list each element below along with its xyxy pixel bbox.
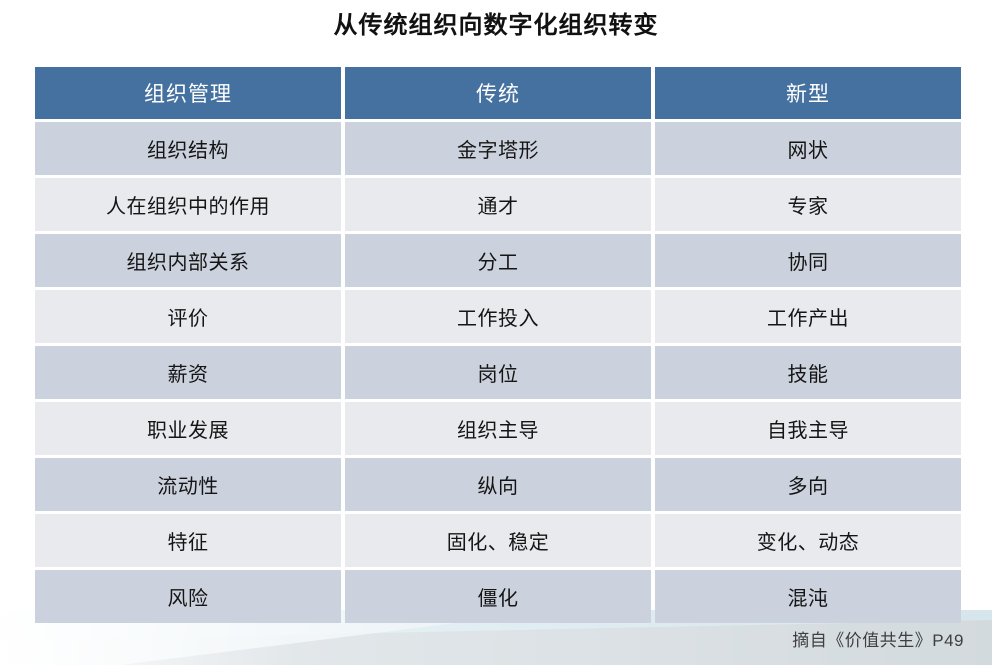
table-row: 组织结构 金字塔形 网状 — [35, 122, 961, 175]
column-header-modern: 新型 — [655, 67, 961, 119]
cell-traditional: 金字塔形 — [345, 122, 651, 175]
cell-category: 特征 — [35, 514, 341, 567]
cell-traditional: 分工 — [345, 234, 651, 287]
cell-modern: 技能 — [655, 346, 961, 399]
cell-category: 组织结构 — [35, 122, 341, 175]
table-row: 人在组织中的作用 通才 专家 — [35, 178, 961, 231]
cell-category: 薪资 — [35, 346, 341, 399]
table-row: 评价 工作投入 工作产出 — [35, 290, 961, 343]
cell-traditional: 通才 — [345, 178, 651, 231]
cell-traditional: 固化、稳定 — [345, 514, 651, 567]
table-body: 组织结构 金字塔形 网状 人在组织中的作用 通才 专家 组织内部关系 分工 协同… — [35, 122, 961, 623]
cell-modern: 协同 — [655, 234, 961, 287]
cell-modern: 混沌 — [655, 570, 961, 623]
source-attribution: 摘自《价值共生》P49 — [792, 626, 964, 651]
cell-modern: 网状 — [655, 122, 961, 175]
table-header-row: 组织管理 传统 新型 — [35, 67, 961, 119]
cell-category: 风险 — [35, 570, 341, 623]
table-header: 组织管理 传统 新型 — [35, 67, 961, 119]
cell-modern: 自我主导 — [655, 402, 961, 455]
table-row: 薪资 岗位 技能 — [35, 346, 961, 399]
cell-traditional: 工作投入 — [345, 290, 651, 343]
table-row: 风险 僵化 混沌 — [35, 570, 961, 623]
cell-modern: 多向 — [655, 458, 961, 511]
cell-traditional: 纵向 — [345, 458, 651, 511]
cell-modern: 工作产出 — [655, 290, 961, 343]
table-row: 特征 固化、稳定 变化、动态 — [35, 514, 961, 567]
table-row: 职业发展 组织主导 自我主导 — [35, 402, 961, 455]
cell-modern: 变化、动态 — [655, 514, 961, 567]
cell-modern: 专家 — [655, 178, 961, 231]
table-row: 流动性 纵向 多向 — [35, 458, 961, 511]
cell-category: 组织内部关系 — [35, 234, 341, 287]
cell-category: 流动性 — [35, 458, 341, 511]
page-title: 从传统组织向数字化组织转变 — [0, 11, 992, 41]
column-header-traditional: 传统 — [345, 67, 651, 119]
cell-traditional: 僵化 — [345, 570, 651, 623]
cell-category: 评价 — [35, 290, 341, 343]
column-header-category: 组织管理 — [35, 67, 341, 119]
cell-category: 职业发展 — [35, 402, 341, 455]
table-row: 组织内部关系 分工 协同 — [35, 234, 961, 287]
cell-category: 人在组织中的作用 — [35, 178, 341, 231]
comparison-table: 组织管理 传统 新型 组织结构 金字塔形 网状 人在组织中的作用 通才 专家 组… — [31, 64, 965, 626]
cell-traditional: 岗位 — [345, 346, 651, 399]
cell-traditional: 组织主导 — [345, 402, 651, 455]
